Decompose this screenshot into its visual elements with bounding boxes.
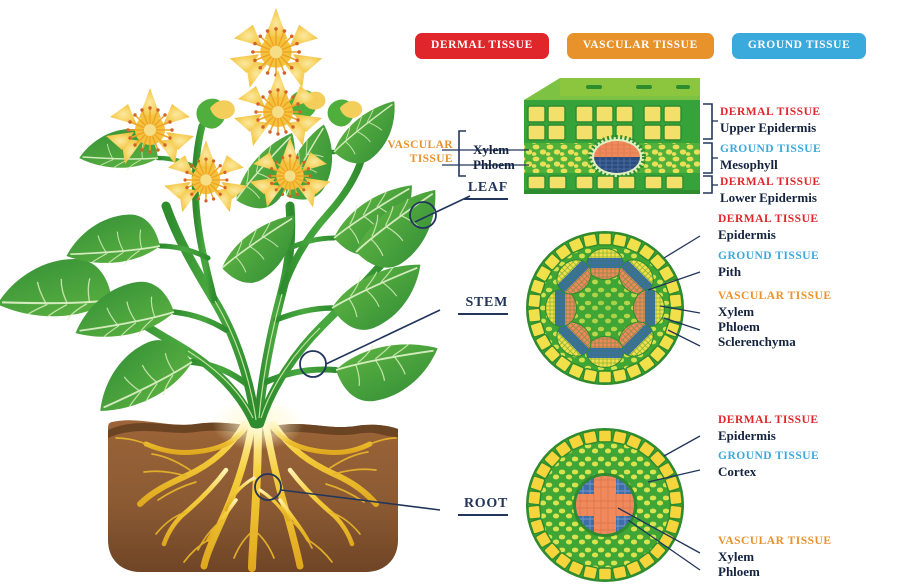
stem-label-0-tissue: DERMAL TISSUE [718,213,819,227]
lower-epidermis-bracket [703,176,712,193]
leaf-vascular-tissue-label: VASCULAR TISSUE [378,138,453,167]
root-label-0-tissue: DERMAL TISSUE [718,414,819,428]
callout-root: ROOT [458,496,508,512]
tissue-legend: DERMAL TISSUE VASCULAR TISSUE GROUND TIS… [415,33,866,59]
stem-label-2-sclerenchyma: Sclerenchyma [718,334,832,349]
callout-stem: STEM [458,295,508,311]
leaf-callout-marker [410,202,436,228]
root-epidermis-leader [664,436,700,456]
root-label-epidermis: DERMAL TISSUE Epidermis [718,414,819,443]
leaf-label-mesophyll: GROUND TISSUE Mesophyll [720,143,821,172]
stem-label-vascular: VASCULAR TISSUE Xylem Phloem Sclerenchym… [718,290,832,350]
callout-leaf-rule [464,198,508,200]
stem-phloem-leader [664,318,700,330]
root-label-1-tissue: GROUND TISSUE [718,450,819,464]
leaf-label-2-name: Lower Epidermis [720,190,821,205]
stem-label-1-name: Pith [718,264,819,279]
stem-label-pith: GROUND TISSUE Pith [718,250,819,279]
stem-label-2-tissue: VASCULAR TISSUE [718,290,832,304]
mesophyll-bracket [703,143,712,173]
upper-epidermis-bracket [703,104,712,139]
root-label-1-name: Cortex [718,464,819,479]
legend-pill-ground[interactable]: GROUND TISSUE [732,33,867,59]
callout-leaf: LEAF [464,180,508,196]
diagram-canvas: DERMAL TISSUE VASCULAR TISSUE GROUND TIS… [0,0,910,587]
leaf-vascular-line2: TISSUE [378,152,453,166]
stem-leader-line [326,310,440,364]
root-xylem-leader [618,508,700,553]
callout-root-rule [458,514,508,516]
stem-pith-leader [648,272,700,290]
root-label-cortex: GROUND TISSUE Cortex [718,450,819,479]
stem-label-0-name: Epidermis [718,227,819,242]
leaf-label-upper-epidermis: DERMAL TISSUE Upper Epidermis [720,106,821,135]
stem-label-2-phloem: Phloem [718,319,832,334]
stem-sclerenchyma-leader [668,330,700,346]
leaf-vascular-bracket [459,131,466,176]
leaf-label-1-name: Mesophyll [720,157,821,172]
leaf-label-lower-epidermis: DERMAL TISSUE Lower Epidermis [720,176,821,205]
root-label-vascular: VASCULAR TISSUE Xylem Phloem [718,535,832,579]
legend-pill-vascular[interactable]: VASCULAR TISSUE [567,33,714,59]
leaf-phloem-label: Phloem [473,156,515,175]
root-label-0-name: Epidermis [718,428,819,443]
root-label-2-xylem: Xylem [718,549,832,564]
leaf-label-1-tissue: GROUND TISSUE [720,143,821,157]
leaf-label-2-tissue: DERMAL TISSUE [720,176,821,190]
stem-callout-marker [300,351,326,377]
stem-label-2-xylem: Xylem [718,304,832,319]
leaf-vascular-line1: VASCULAR [378,138,453,152]
root-cortex-leader [648,470,700,482]
stem-xylem-leader [660,306,700,313]
root-label-2-phloem: Phloem [718,564,832,579]
root-label-2-tissue: VASCULAR TISSUE [718,535,832,549]
stem-label-epidermis: DERMAL TISSUE Epidermis [718,213,819,242]
leaf-label-0-tissue: DERMAL TISSUE [720,106,821,120]
legend-pill-dermal[interactable]: DERMAL TISSUE [415,33,549,59]
stem-label-1-tissue: GROUND TISSUE [718,250,819,264]
root-leader-line [281,490,440,510]
callout-stem-rule [458,313,508,315]
root-callout-marker [255,474,281,500]
leaf-label-0-name: Upper Epidermis [720,120,821,135]
stem-epidermis-leader [664,236,700,258]
root-phloem-leader [628,520,700,570]
leaf-leader-line [415,196,470,222]
